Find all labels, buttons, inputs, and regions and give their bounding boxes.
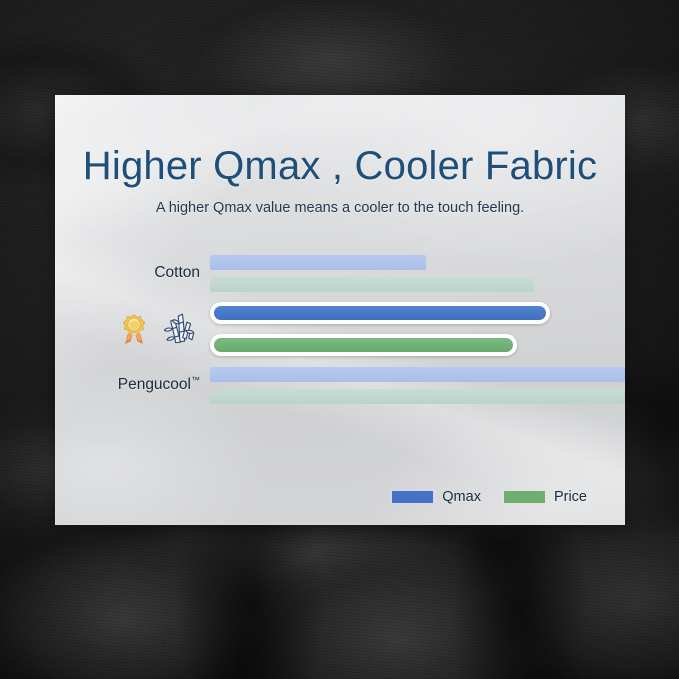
bar-group-featured <box>210 302 625 356</box>
legend-item-qmax: Qmax <box>391 489 481 505</box>
bar-price-pengucool <box>210 389 625 404</box>
chart-row-featured <box>55 301 625 357</box>
bar-price-cotton <box>210 277 534 292</box>
row-label-pengucool-text: Pengucool <box>118 377 191 394</box>
page-subtitle: A higher Qmax value means a cooler to th… <box>55 200 625 216</box>
bar-qmax-featured <box>210 302 550 324</box>
bar-track-qmax-pengucool <box>210 367 625 382</box>
legend-label-price: Price <box>554 489 587 505</box>
bar-qmax-pengucool <box>210 367 625 382</box>
bar-group-pengucool <box>210 367 625 404</box>
bar-track-qmax-cotton <box>210 255 625 270</box>
gold-medal-icon <box>119 313 149 345</box>
trademark-symbol: ™ <box>191 375 200 385</box>
bamboo-icon <box>158 307 200 351</box>
row-label-pengucool: Pengucool™ <box>55 375 210 394</box>
row-icons-featured <box>55 307 210 351</box>
row-label-cotton: Cotton <box>55 264 210 282</box>
legend-item-price: Price <box>503 489 587 505</box>
legend-swatch-price <box>503 490 546 504</box>
chart-row-cotton: Cotton <box>55 245 625 301</box>
qmax-comparison-chart: Cotton <box>55 245 625 413</box>
legend-swatch-qmax <box>391 490 434 504</box>
bar-track-price-cotton <box>210 277 625 292</box>
bar-track-qmax-featured <box>210 302 625 324</box>
bar-qmax-cotton <box>210 255 426 270</box>
chart-row-pengucool: Pengucool™ <box>55 357 625 413</box>
info-card: Higher Qmax , Cooler Fabric A higher Qma… <box>55 95 625 525</box>
bar-group-cotton <box>210 255 625 292</box>
page-title: Higher Qmax , Cooler Fabric <box>55 144 625 189</box>
bar-track-price-featured <box>210 334 625 356</box>
chart-legend: Qmax Price <box>391 489 587 505</box>
legend-label-qmax: Qmax <box>442 489 481 505</box>
bar-price-featured <box>210 334 517 356</box>
bar-track-price-pengucool <box>210 389 625 404</box>
